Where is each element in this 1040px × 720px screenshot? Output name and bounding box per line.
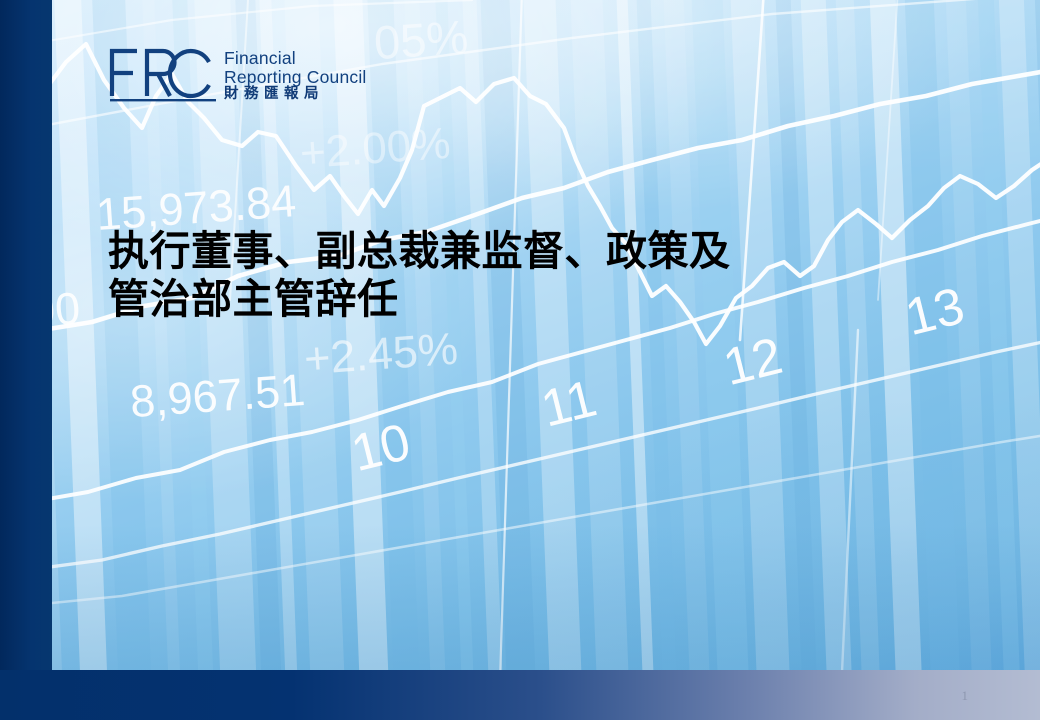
frc-logo-text: Financial Reporting Council 財務匯報局 [224,46,367,102]
slide-title-line-1: 执行董事、副总裁兼监督、政策及 [108,228,868,276]
frc-letters-icon [108,46,216,102]
left-navy-bar [0,0,52,720]
slide-title: 执行董事、副总裁兼监督、政策及 管治部主管辞任 [108,228,868,323]
slide-title-line-2: 管治部主管辞任 [108,276,868,324]
page-number: 1 [962,688,969,704]
frc-logo-line2: Reporting Council [224,68,367,87]
presentation-slide: 05% +2.00% 15,973.84 00 +2.45% 8,967.51 … [0,0,1040,720]
frc-logo-chinese: 財務匯報局 [224,87,367,102]
frc-logo-line1: Financial [224,49,367,68]
frc-monogram-icon [108,46,216,102]
frc-logo: Financial Reporting Council 財務匯報局 [108,46,367,102]
bottom-gradient-band [0,670,1040,720]
